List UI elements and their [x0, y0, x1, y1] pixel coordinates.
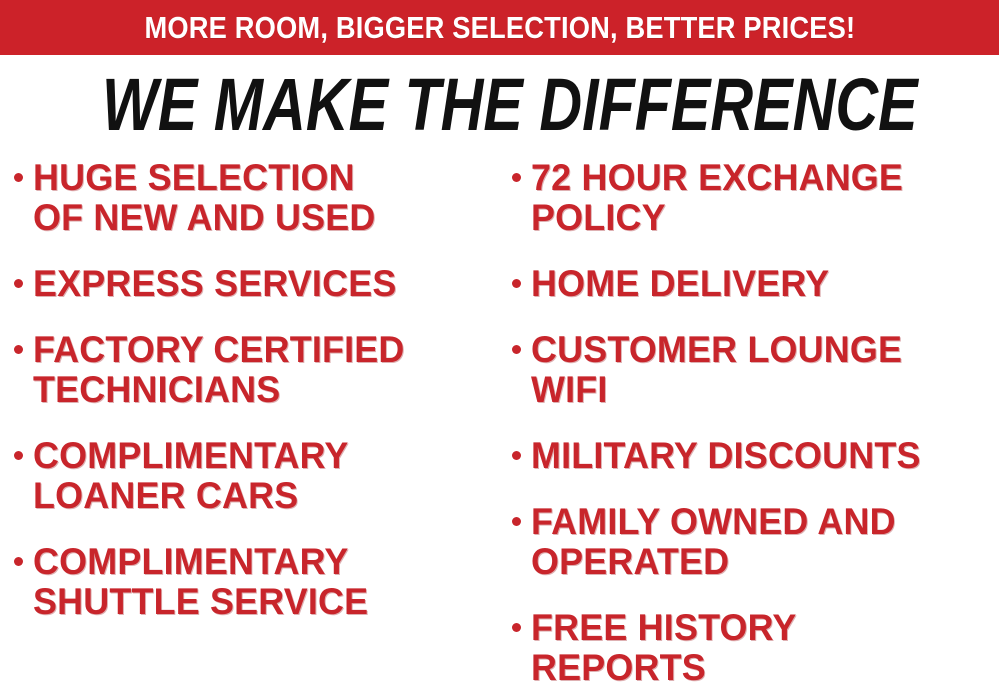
list-item-label: EXPRESS SERVICES: [33, 264, 486, 304]
benefits-columns: HUGE SELECTION OF NEW AND USED EXPRESS S…: [0, 158, 999, 692]
benefits-column-left: HUGE SELECTION OF NEW AND USED EXPRESS S…: [14, 158, 500, 692]
promo-banner: MORE ROOM, BIGGER SELECTION, BETTER PRIC…: [0, 0, 999, 55]
list-item: EXPRESS SERVICES: [14, 264, 500, 304]
list-item: COMPLIMENTARY LOANER CARS: [14, 436, 500, 516]
bullet-dot-icon: [14, 173, 23, 182]
bullet-dot-icon: [512, 451, 521, 460]
list-item-label: HUGE SELECTION OF NEW AND USED: [33, 158, 486, 238]
bullet-dot-icon: [512, 345, 521, 354]
list-item-label: CUSTOMER LOUNGE WIFI: [531, 330, 985, 410]
advertisement-card: MORE ROOM, BIGGER SELECTION, BETTER PRIC…: [0, 0, 999, 692]
list-item: HUGE SELECTION OF NEW AND USED: [14, 158, 500, 238]
list-item: 72 HOUR EXCHANGE POLICY: [512, 158, 999, 238]
bullet-dot-icon: [512, 517, 521, 526]
bullet-dot-icon: [512, 623, 521, 632]
list-item: FAMILY OWNED AND OPERATED: [512, 502, 999, 582]
list-item-label: FACTORY CERTIFIED TECHNICIANS: [33, 330, 486, 410]
bullet-dot-icon: [512, 279, 521, 288]
bullet-dot-icon: [14, 557, 23, 566]
headline: WE MAKE THE DIFFERENCE: [0, 68, 999, 142]
list-item-label: COMPLIMENTARY LOANER CARS: [33, 436, 486, 516]
headline-text: WE MAKE THE DIFFERENCE: [102, 68, 918, 142]
list-item: CUSTOMER LOUNGE WIFI: [512, 330, 999, 410]
list-item-label: FAMILY OWNED AND OPERATED: [531, 502, 985, 582]
bullet-dot-icon: [14, 451, 23, 460]
benefits-column-right: 72 HOUR EXCHANGE POLICY HOME DELIVERY CU…: [512, 158, 999, 692]
list-item: FREE HISTORY REPORTS: [512, 608, 999, 688]
list-item: MILITARY DISCOUNTS: [512, 436, 999, 476]
list-item: HOME DELIVERY: [512, 264, 999, 304]
list-item-label: FREE HISTORY REPORTS: [531, 608, 985, 688]
list-item-label: HOME DELIVERY: [531, 264, 985, 304]
list-item: FACTORY CERTIFIED TECHNICIANS: [14, 330, 500, 410]
list-item: COMPLIMENTARY SHUTTLE SERVICE: [14, 542, 500, 622]
promo-banner-text: MORE ROOM, BIGGER SELECTION, BETTER PRIC…: [144, 12, 855, 43]
list-item-label: MILITARY DISCOUNTS: [531, 436, 985, 476]
list-item-label: 72 HOUR EXCHANGE POLICY: [531, 158, 985, 238]
bullet-dot-icon: [512, 173, 521, 182]
list-item-label: COMPLIMENTARY SHUTTLE SERVICE: [33, 542, 486, 622]
bullet-dot-icon: [14, 279, 23, 288]
bullet-dot-icon: [14, 345, 23, 354]
